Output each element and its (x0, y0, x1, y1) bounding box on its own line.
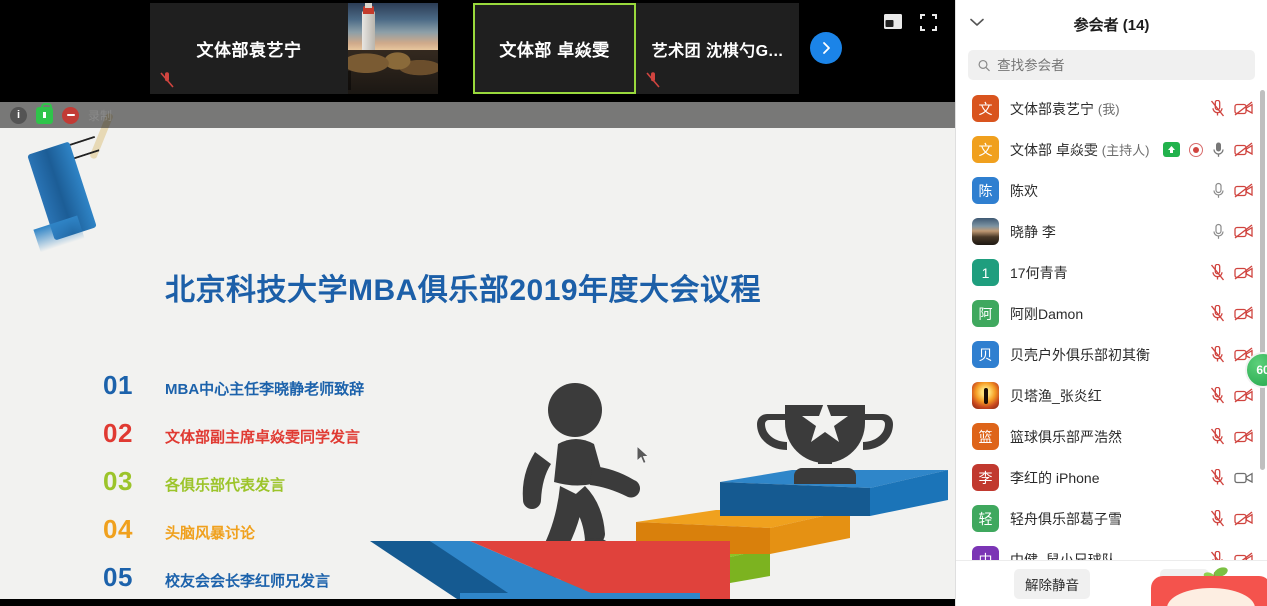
fullscreen-button[interactable] (920, 14, 937, 31)
video-off-icon[interactable] (1234, 101, 1253, 116)
participants-title: 参会者 (14) (1074, 14, 1150, 35)
video-off-icon[interactable] (1234, 429, 1253, 444)
mic-muted-icon[interactable] (1210, 469, 1225, 486)
list-item[interactable]: 阿 阿刚Damon (956, 293, 1267, 334)
list-item[interactable]: 篮 篮球俱乐部严浩然 (956, 416, 1267, 457)
video-tile-name: 文体部 卓焱雯 (499, 36, 609, 61)
participant-name-text: 贝塔渔_张炎红 (1010, 388, 1102, 404)
slide-bottom-decoration (370, 541, 850, 599)
participant-name: 贝壳户外俱乐部初其衡 (1010, 345, 1199, 365)
participant-name-text: 贝壳户外俱乐部初其衡 (1010, 347, 1150, 363)
video-off-icon[interactable] (1234, 511, 1253, 526)
participant-name-text: 轻舟俱乐部葛子雪 (1010, 511, 1122, 527)
list-item[interactable]: 贝 贝壳户外俱乐部初其衡 (956, 334, 1267, 375)
presentation-slide: i 录制 北京科技大学MBA俱乐部2019年度大会议程 01 MBA中心主任李晓… (0, 102, 955, 599)
video-off-icon[interactable] (1234, 388, 1253, 403)
participant-name-suffix: (主持人) (1102, 143, 1150, 158)
picture-in-picture-button[interactable] (884, 14, 902, 29)
avatar (972, 218, 999, 245)
record-icon[interactable] (62, 107, 79, 124)
agenda-text: 文体部副主席卓焱雯同学发言 (165, 426, 360, 447)
participant-name-text: 中健_鼠小兄球队 (1010, 552, 1116, 561)
participant-name-text: 文体部 卓焱雯 (1010, 142, 1098, 158)
mouse-cursor (636, 445, 650, 465)
lock-icon[interactable] (36, 107, 53, 124)
video-on-icon[interactable] (1234, 470, 1253, 485)
video-off-icon[interactable] (1234, 265, 1253, 280)
participants-panel-footer: 解除静音 举手 (956, 560, 1267, 606)
filmstrip-empty-left (0, 0, 150, 97)
search-icon (978, 59, 990, 72)
participant-name-text: 17何青青 (1010, 265, 1068, 281)
record-label: 录制 (88, 107, 112, 124)
chevron-right-icon (819, 41, 833, 55)
participant-name: 贝塔渔_张炎红 (1010, 386, 1199, 406)
avatar: 李 (972, 464, 999, 491)
participant-name-text: 陈欢 (1010, 183, 1038, 199)
shared-screen-area: i 录制 北京科技大学MBA俱乐部2019年度大会议程 01 MBA中心主任李晓… (0, 97, 955, 606)
agenda-list: 01 MBA中心主任李晓静老师致辞 02 文体部副主席卓焱雯同学发言 03 各俱… (103, 370, 364, 599)
agenda-text: 校友会会长李红师兄发言 (165, 570, 330, 591)
unmute-button[interactable]: 解除静音 (1014, 569, 1090, 599)
list-item[interactable]: 陈 陈欢 (956, 170, 1267, 211)
participant-name-text: 篮球俱乐部严浩然 (1010, 429, 1122, 445)
participant-status-icons (1210, 387, 1253, 404)
participant-name: 篮球俱乐部严浩然 (1010, 427, 1199, 447)
agenda-number: 02 (103, 418, 165, 449)
zoom-meeting-window: 文体部袁艺宁 晓静 李 文体部 卓焱雯 艺术团 沈棋勺G... (0, 0, 1267, 606)
participant-status-icons (1210, 510, 1253, 527)
participant-search-box[interactable] (968, 50, 1255, 80)
list-item[interactable]: 晓静 李 (956, 211, 1267, 252)
participant-name: 17何青青 (1010, 263, 1199, 283)
video-tile-3[interactable]: 艺术团 沈棋勺G... (636, 3, 799, 94)
participant-status-icons (1210, 469, 1253, 486)
participant-name-suffix: (我) (1098, 102, 1120, 117)
participant-name-text: 阿刚Damon (1010, 306, 1083, 322)
avatar: 阿 (972, 300, 999, 327)
paint-roller-decoration (36, 114, 156, 254)
participant-status-icons (1163, 141, 1253, 158)
participant-name-text: 李红的 iPhone (1010, 470, 1099, 486)
agenda-item: 01 MBA中心主任李晓静老师致辞 (103, 370, 364, 418)
mic-muted-icon[interactable] (1210, 428, 1225, 445)
mic-muted-icon[interactable] (1210, 346, 1225, 363)
participant-name: 轻舟俱乐部葛子雪 (1010, 509, 1199, 529)
participant-list[interactable]: 文 文体部袁艺宁 (我) (956, 88, 1267, 560)
mic-muted-icon[interactable] (1210, 264, 1225, 281)
participant-name: 晓静 李 (1010, 222, 1201, 242)
reaction-overlay-decoration (1151, 576, 1267, 606)
filmstrip-next-button[interactable] (810, 32, 842, 64)
participant-status-icons (1210, 428, 1253, 445)
agenda-number: 04 (103, 514, 165, 545)
video-off-icon[interactable] (1234, 183, 1253, 198)
chevron-down-icon[interactable] (970, 18, 984, 27)
mic-muted-icon (160, 72, 174, 88)
participant-name: 阿刚Damon (1010, 304, 1199, 324)
mic-on-icon[interactable] (1212, 141, 1225, 158)
picture-in-picture-icon (884, 14, 902, 29)
agenda-text: MBA中心主任李晓静老师致辞 (165, 378, 364, 399)
participant-status-icons (1210, 264, 1253, 281)
avatar: 文 (972, 136, 999, 163)
video-tile-name: 文体部袁艺宁 (197, 36, 302, 61)
mic-on-icon[interactable] (1212, 223, 1225, 240)
host-badge-icon (1163, 142, 1180, 157)
mic-on-icon[interactable] (1212, 182, 1225, 199)
arrow-up-icon (1167, 145, 1176, 154)
rocks-decoration (348, 50, 438, 94)
mic-muted-icon[interactable] (1210, 100, 1225, 117)
mic-muted-icon[interactable] (1210, 387, 1225, 404)
search-input[interactable] (997, 58, 1245, 73)
video-tile-2-active-speaker[interactable]: 文体部 卓焱雯 (473, 3, 636, 94)
mic-muted-icon[interactable] (1210, 305, 1225, 322)
agenda-text: 各俱乐部代表发言 (165, 474, 285, 495)
avatar: 篮 (972, 423, 999, 450)
list-item[interactable]: 轻 轻舟俱乐部葛子雪 (956, 498, 1267, 539)
avatar: 文 (972, 95, 999, 122)
info-icon[interactable]: i (10, 107, 27, 124)
participant-list-scrollbar[interactable] (1260, 90, 1265, 470)
list-item[interactable]: 1 17何青青 (956, 252, 1267, 293)
video-tile-name: 艺术团 沈棋勺G... (652, 37, 784, 61)
avatar: 中 (972, 546, 999, 560)
mic-muted-icon[interactable] (1210, 551, 1225, 560)
video-off-icon[interactable] (1234, 142, 1253, 157)
video-tile-name: 晓静 李 (348, 71, 351, 90)
meeting-status-bar: i 录制 (0, 102, 955, 128)
list-item[interactable]: 中 中健_鼠小兄球队 (956, 539, 1267, 560)
agenda-number: 01 (103, 370, 165, 401)
recording-icon (1189, 143, 1203, 157)
participant-status-icons (1212, 223, 1253, 240)
video-tile-0[interactable]: 文体部袁艺宁 (150, 3, 348, 94)
participant-name-text: 晓静 李 (1010, 224, 1056, 240)
participant-name: 文体部 卓焱雯 (主持人) (1010, 140, 1152, 160)
video-tile-1-photo[interactable]: 晓静 李 (348, 3, 438, 94)
avatar: 轻 (972, 505, 999, 532)
agenda-item: 02 文体部副主席卓焱雯同学发言 (103, 418, 364, 466)
mic-muted-icon[interactable] (1210, 510, 1225, 527)
list-item[interactable]: 文 文体部 卓焱雯 (主持人) (956, 129, 1267, 170)
list-item[interactable]: 文 文体部袁艺宁 (我) (956, 88, 1267, 129)
agenda-item: 03 各俱乐部代表发言 (103, 466, 364, 514)
slide-title: 北京科技大学MBA俱乐部2019年度大会议程 (165, 265, 761, 309)
participant-name: 中健_鼠小兄球队 (1010, 550, 1199, 561)
agenda-item: 04 头脑风暴讨论 (103, 514, 364, 562)
agenda-item: 05 校友会会长李红师兄发言 (103, 562, 364, 599)
participant-name: 陈欢 (1010, 181, 1201, 201)
avatar: 陈 (972, 177, 999, 204)
video-off-icon[interactable] (1234, 306, 1253, 321)
participant-status-icons (1210, 100, 1253, 117)
video-off-icon[interactable] (1234, 224, 1253, 239)
agenda-number: 03 (103, 466, 165, 497)
video-filmstrip: 文体部袁艺宁 晓静 李 文体部 卓焱雯 艺术团 沈棋勺G... (0, 0, 955, 97)
participant-name: 李红的 iPhone (1010, 468, 1199, 488)
participant-status-icons (1212, 182, 1253, 199)
lighthouse-lamp-decoration (365, 3, 372, 8)
agenda-text: 头脑风暴讨论 (165, 522, 255, 543)
avatar (972, 382, 999, 409)
mic-muted-icon (646, 72, 660, 88)
participant-name-text: 文体部袁艺宁 (1010, 101, 1094, 117)
participant-status-icons (1210, 305, 1253, 322)
participants-panel-header: 参会者 (14) (956, 0, 1267, 48)
meeting-stage: 文体部袁艺宁 晓静 李 文体部 卓焱雯 艺术团 沈棋勺G... (0, 0, 955, 606)
avatar: 贝 (972, 341, 999, 368)
participant-name: 文体部袁艺宁 (我) (1010, 99, 1199, 119)
list-item[interactable]: 贝塔渔_张炎红 (956, 375, 1267, 416)
avatar: 1 (972, 259, 999, 286)
lighthouse-decoration (362, 11, 375, 51)
participant-status-icons (1210, 551, 1253, 560)
fullscreen-icon (920, 14, 937, 31)
video-off-icon[interactable] (1234, 552, 1253, 560)
agenda-number: 05 (103, 562, 165, 593)
participants-panel: 参会者 (14) 文 文体部袁艺宁 (我) (955, 0, 1267, 606)
list-item[interactable]: 李 李红的 iPhone (956, 457, 1267, 498)
